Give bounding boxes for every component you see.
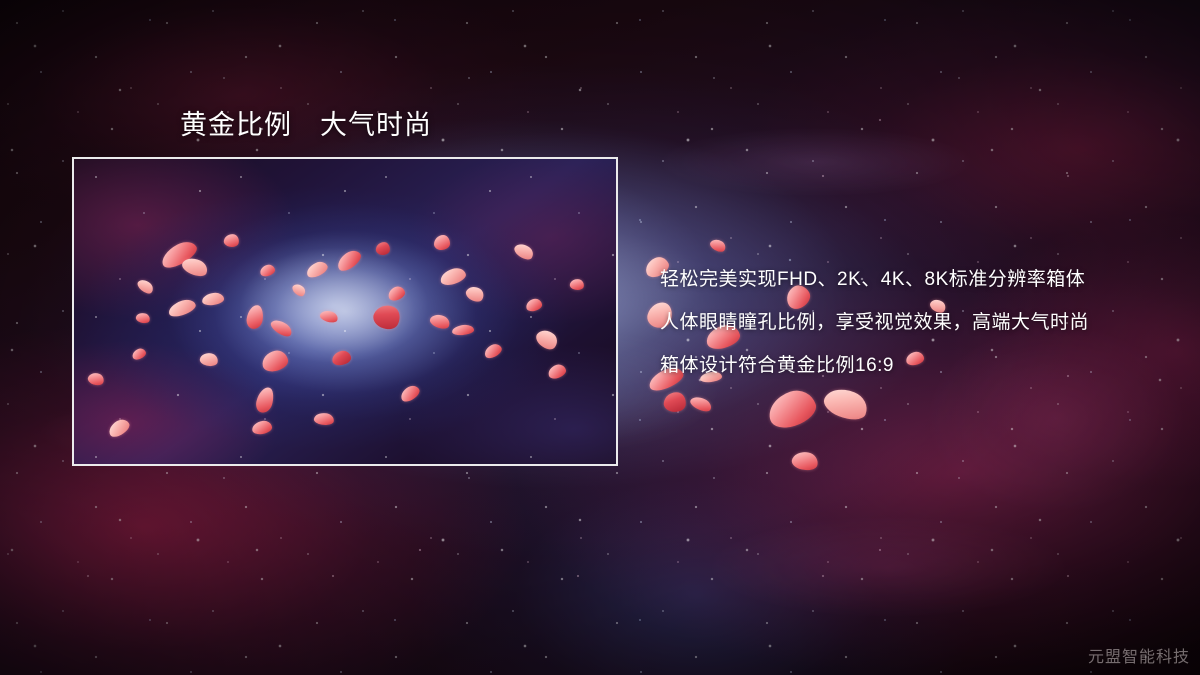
petal: [688, 394, 713, 414]
preview-starfield: [74, 159, 616, 464]
preview-image: [74, 159, 616, 464]
preview-image-frame: [72, 157, 618, 466]
presentation-slide: 黄金比例 大气时尚: [0, 0, 1200, 675]
petal: [820, 383, 871, 425]
body-line-1: 轻松完美实现FHD、2K、4K、8K标准分辨率箱体: [660, 258, 1180, 301]
petal: [790, 449, 819, 472]
petal: [663, 391, 688, 414]
petal: [708, 237, 727, 255]
slide-title: 黄金比例 大气时尚: [180, 103, 432, 142]
watermark-brand: 元盟智能科技: [1088, 643, 1190, 667]
body-line-2: 人体眼睛瞳孔比例，享受视觉效果，高端大气时尚: [660, 301, 1180, 344]
petal: [764, 385, 820, 432]
body-copy: 轻松完美实现FHD、2K、4K、8K标准分辨率箱体 人体眼睛瞳孔比例，享受视觉效…: [660, 258, 1180, 387]
body-line-3: 箱体设计符合黄金比例16:9: [660, 344, 1180, 387]
petal: [434, 235, 450, 250]
